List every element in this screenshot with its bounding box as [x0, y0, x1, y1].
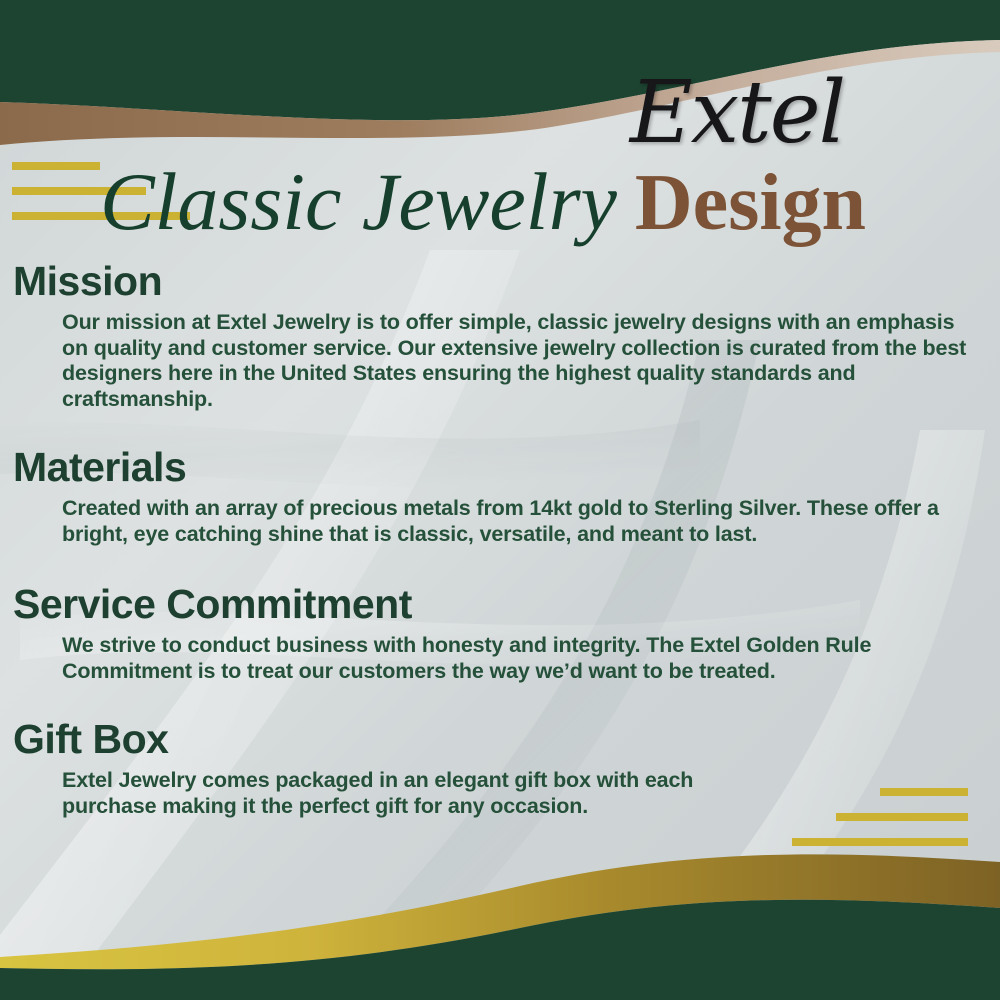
- section-service-commitment: Service Commitment We strive to conduct …: [0, 579, 1000, 684]
- brand-wordmark: Extel: [612, 66, 862, 161]
- section-body-mission: Our mission at Extel Jewelry is to offer…: [0, 306, 1000, 412]
- section-paragraph: Created with an array of precious metals…: [62, 496, 970, 547]
- section-body-materials: Created with an array of precious metals…: [0, 492, 1000, 547]
- section-title-gift-box: Gift Box: [0, 714, 1000, 764]
- title-accent: Design: [635, 159, 866, 247]
- section-paragraph: Our mission at Extel Jewelry is to offer…: [62, 310, 970, 412]
- section-paragraph: We strive to conduct business with hones…: [62, 633, 970, 684]
- poster-title: Classic JewelryDesign: [0, 152, 1000, 252]
- title-main: Classic Jewelry: [100, 156, 617, 247]
- gold-line-long: [792, 838, 968, 846]
- section-paragraph: Extel Jewelry comes packaged in an elega…: [62, 768, 750, 819]
- section-body-gift-box: Extel Jewelry comes packaged in an elega…: [0, 764, 1000, 819]
- section-title-materials: Materials: [0, 442, 1000, 492]
- section-gift-box: Gift Box Extel Jewelry comes packaged in…: [0, 714, 1000, 819]
- section-materials: Materials Created with an array of preci…: [0, 442, 1000, 547]
- section-title-mission: Mission: [0, 256, 1000, 306]
- section-body-service-commitment: We strive to conduct business with hones…: [0, 629, 1000, 684]
- poster-canvas: Extel Classic JewelryDesign Mission Our …: [0, 0, 1000, 1000]
- section-mission: Mission Our mission at Extel Jewelry is …: [0, 256, 1000, 412]
- section-title-service-commitment: Service Commitment: [0, 579, 1000, 629]
- sections-container: Mission Our mission at Extel Jewelry is …: [0, 256, 1000, 823]
